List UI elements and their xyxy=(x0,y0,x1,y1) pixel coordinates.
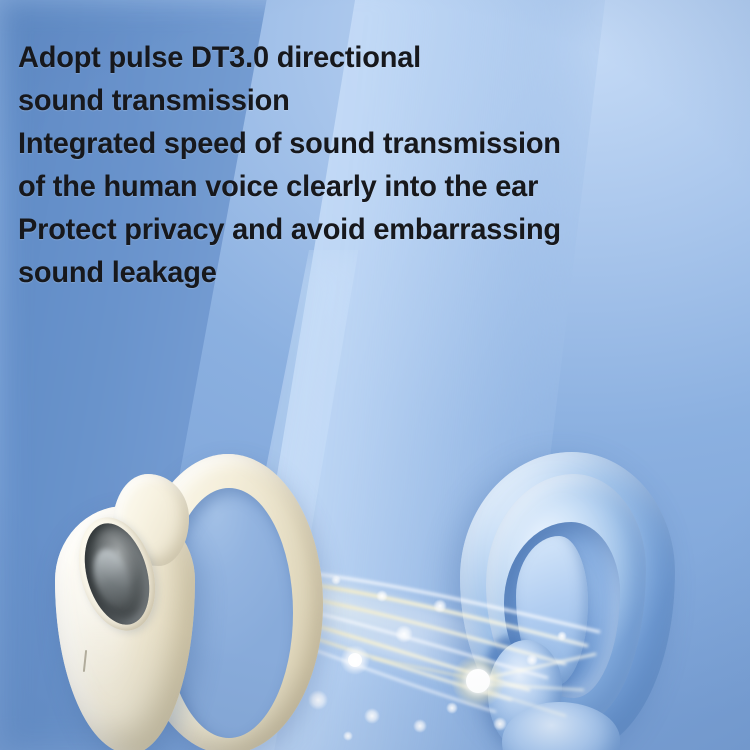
headline-line-1: Adopt pulse DT3.0 directional xyxy=(18,36,694,79)
product-feature-image: Adopt pulse DT3.0 directional sound tran… xyxy=(0,0,750,750)
headline-copy: Adopt pulse DT3.0 directional sound tran… xyxy=(18,36,718,294)
headline-line-4: of the human voice clearly into the ear xyxy=(18,165,694,208)
headline-line-5: Protect privacy and avoid embarrassing xyxy=(18,208,694,251)
headline-line-6: sound leakage xyxy=(18,251,694,294)
headline-line-3: Integrated speed of sound transmission xyxy=(18,122,694,165)
headline-line-2: sound transmission xyxy=(18,79,694,122)
